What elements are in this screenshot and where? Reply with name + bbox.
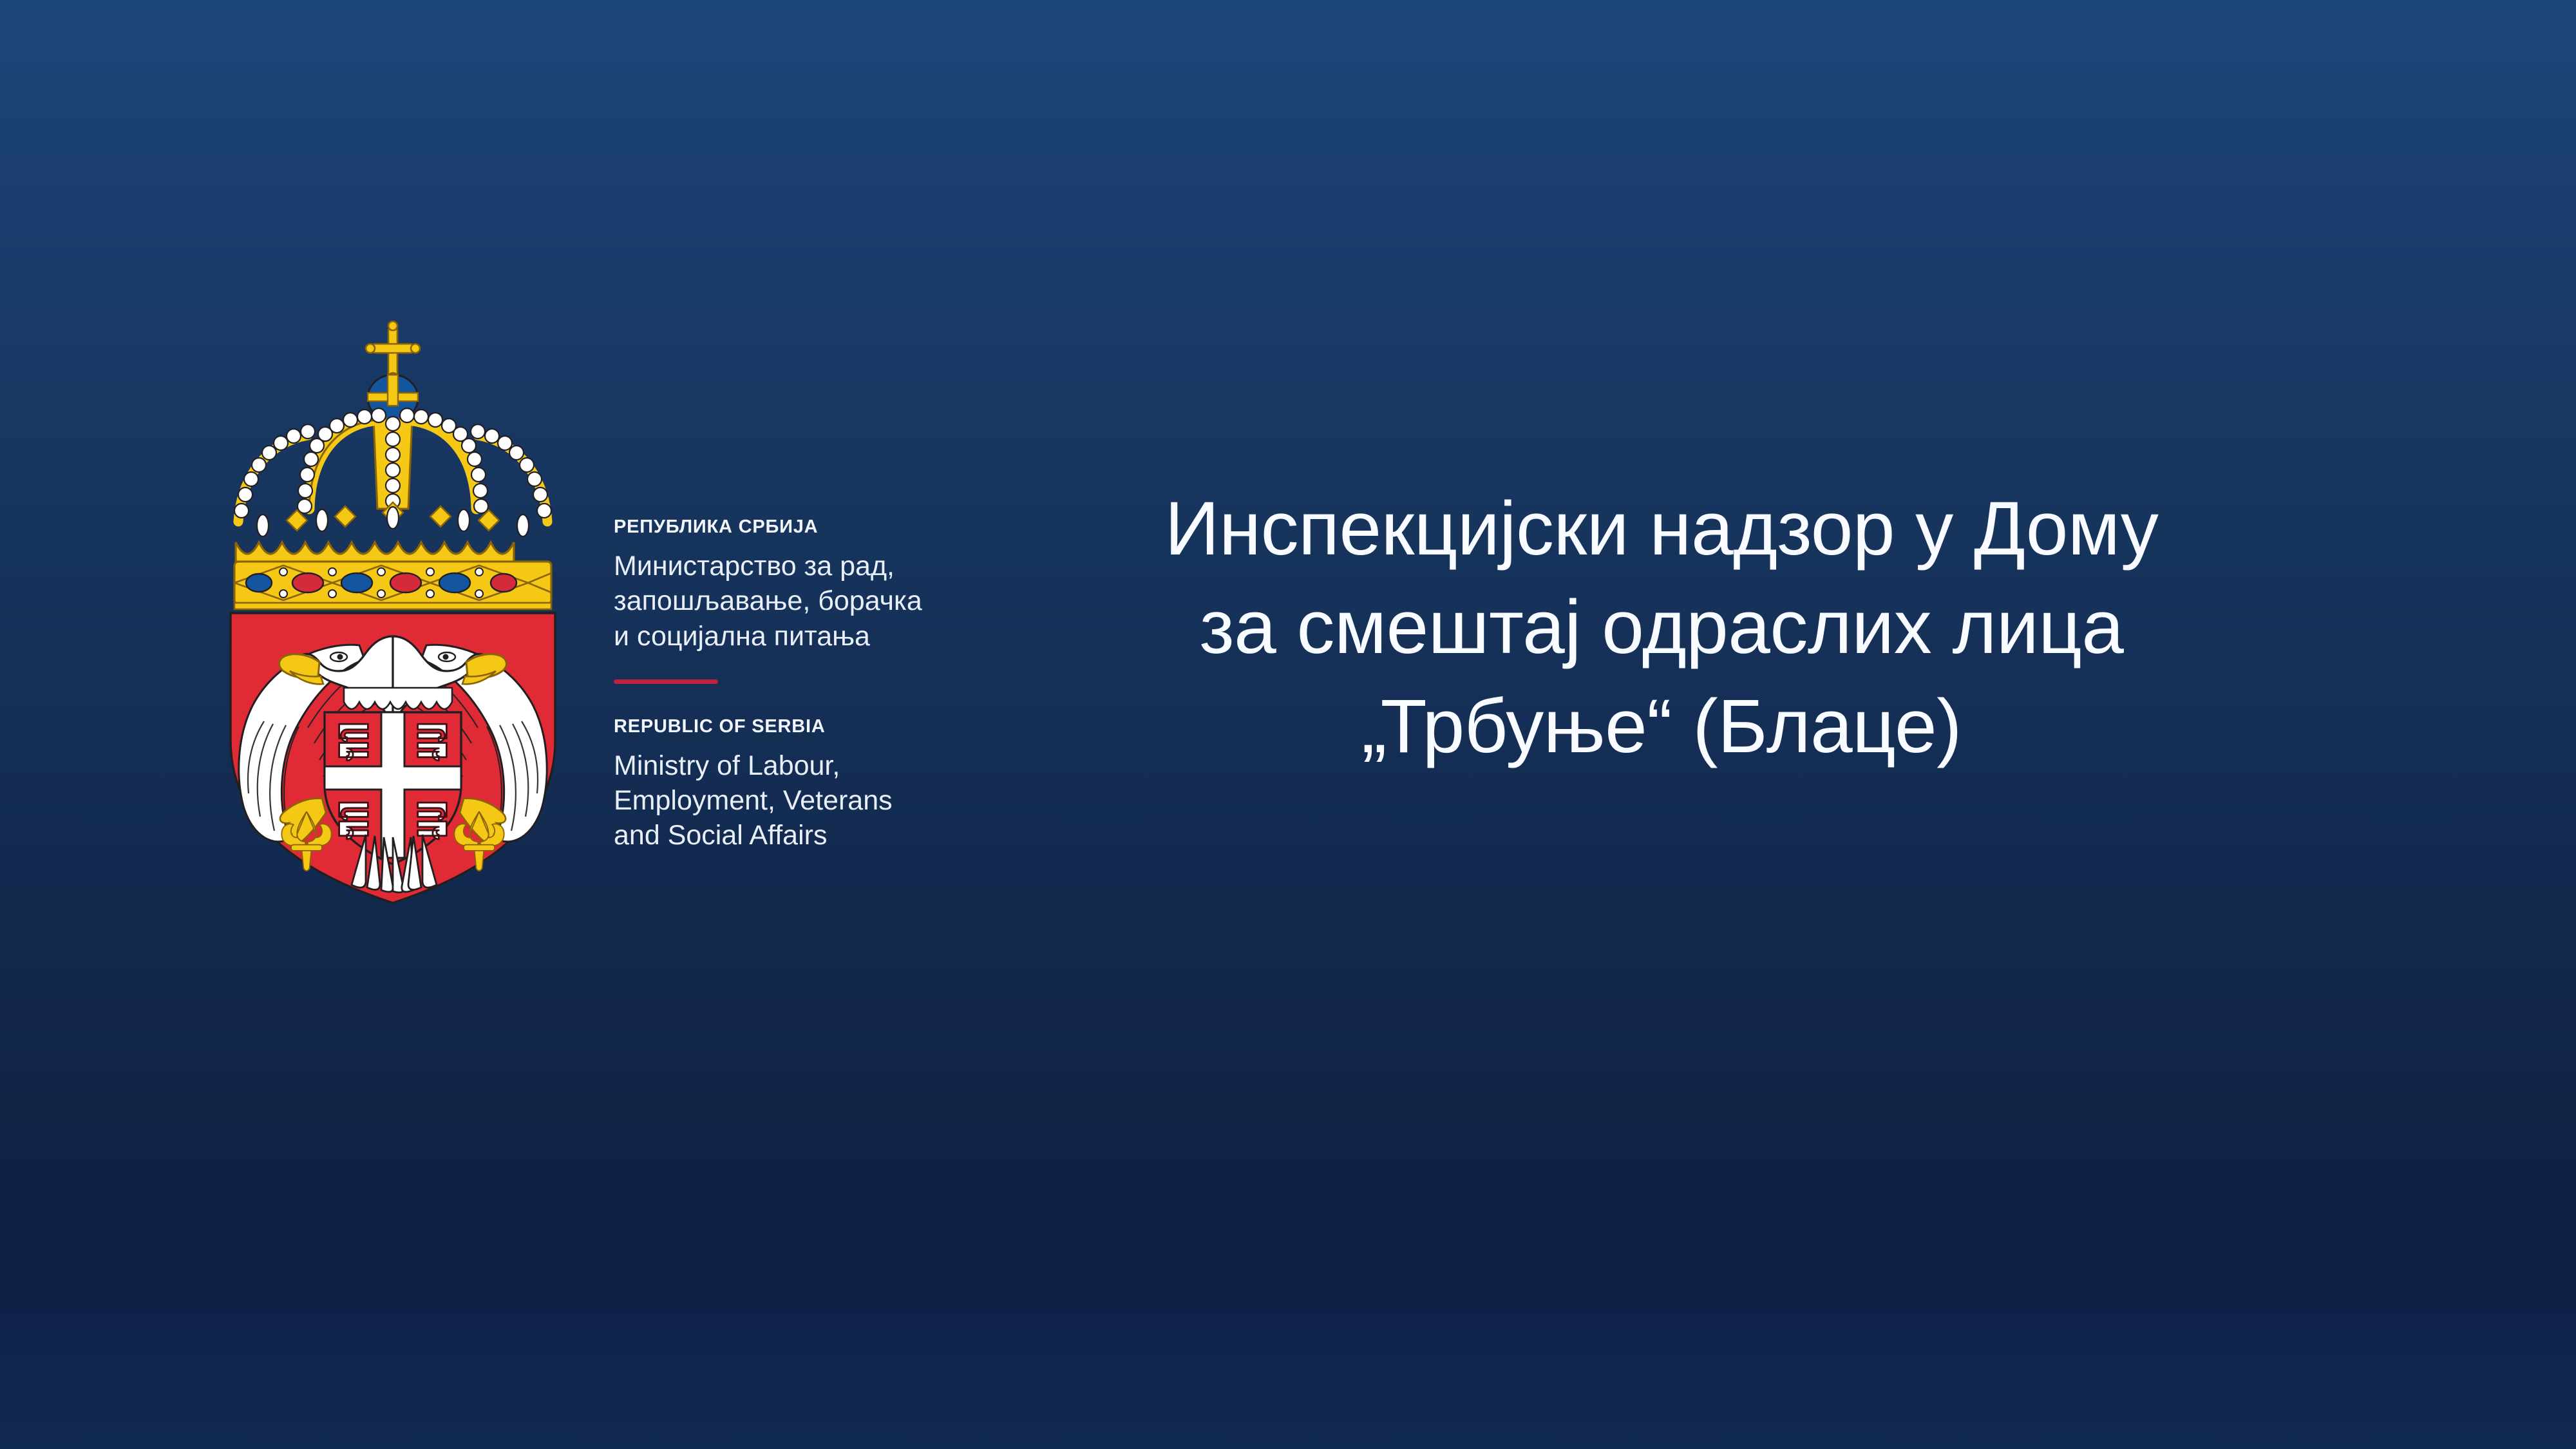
ministry-name-en: Ministry of Labour, Employment, Veterans… xyxy=(614,748,961,853)
coat-of-arms-of-serbia-emblem xyxy=(213,316,573,914)
ministry-name-en-line-3: and Social Affairs xyxy=(614,820,827,851)
eagle-tail xyxy=(352,835,437,893)
slide-title-line-2: за смештај одраслих лица xyxy=(1037,578,2286,677)
slide-title: Инспекцијски надзор у Дому за смештај од… xyxy=(1037,480,2286,776)
ministry-name-sr-line-3: и социјална питања xyxy=(614,621,870,652)
red-shield xyxy=(231,613,555,903)
slide-title-line-1: Инспекцијски надзор у Дому xyxy=(1037,480,2286,578)
red-divider-rule xyxy=(614,679,718,684)
republic-of-serbia-label-sr: РЕПУБЛИКА СРБИЈА xyxy=(614,515,961,538)
republic-of-serbia-label-en: REPUBLIC OF SERBIA xyxy=(614,715,961,738)
presentation-slide: РЕПУБЛИКА СРБИЈА Министарство за рад, за… xyxy=(0,0,2576,1449)
ministry-name-en-line-1: Ministry of Labour, xyxy=(614,750,840,781)
ministry-name-sr-line-1: Министарство за рад, xyxy=(614,551,895,582)
crown-icon xyxy=(234,321,551,609)
ministry-name-en-line-2: Employment, Veterans xyxy=(614,785,893,816)
slide-title-line-3: „Трбуње“ (Блаце) xyxy=(1037,677,2286,776)
ministry-name-sr-line-2: запошљавање, борачка xyxy=(614,585,922,616)
ministry-name-sr: Министарство за рад, запошљавање, борачк… xyxy=(614,549,961,654)
ministry-identity-block: РЕПУБЛИКА СРБИЈА Министарство за рад, за… xyxy=(614,515,961,853)
